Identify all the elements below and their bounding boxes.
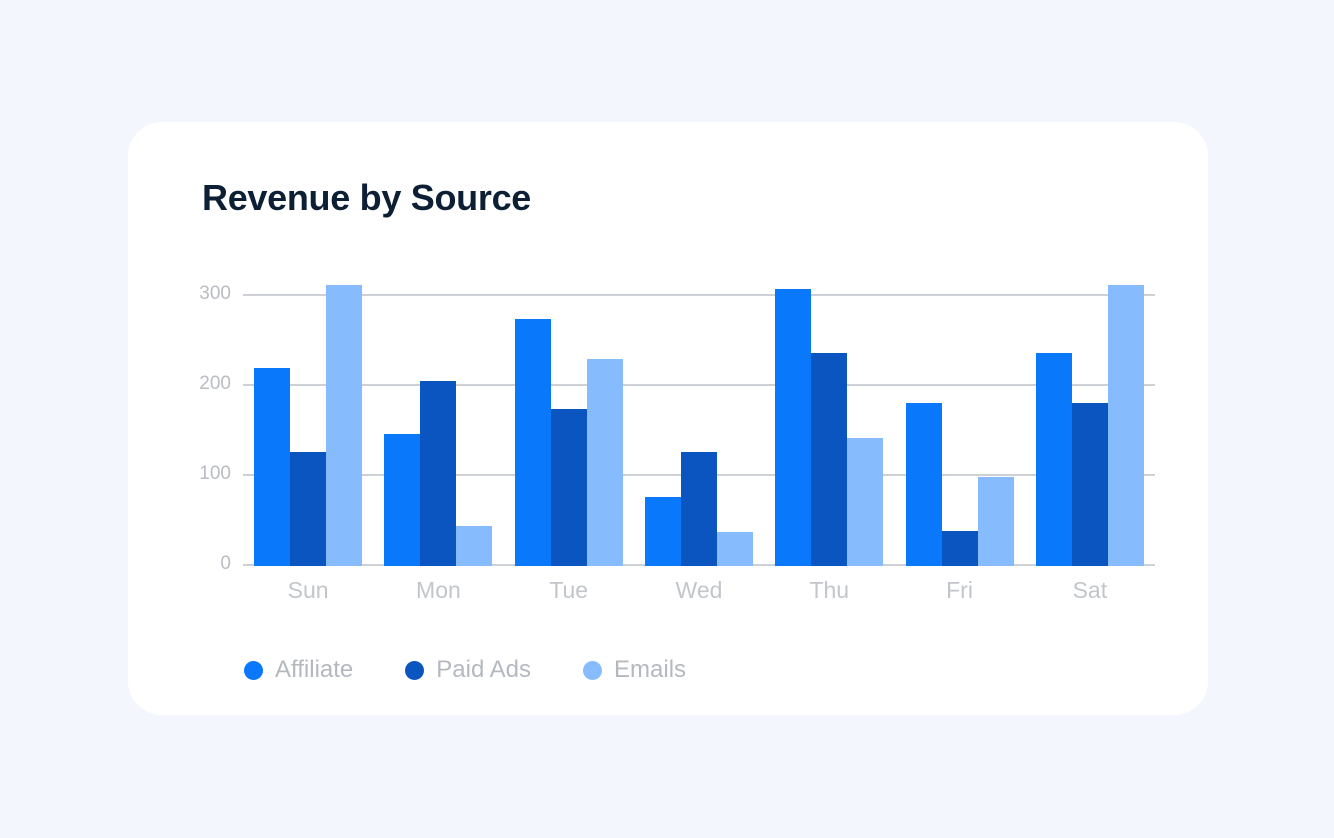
- bar[interactable]: [906, 403, 942, 566]
- bar-group: [894, 246, 1024, 566]
- x-axis-tick-label: Sun: [243, 577, 373, 604]
- x-axis-tick-label: Wed: [634, 577, 764, 604]
- bar[interactable]: [847, 438, 883, 566]
- bar-group: [1025, 246, 1155, 566]
- legend-item[interactable]: Emails: [583, 656, 686, 684]
- bar[interactable]: [384, 434, 420, 566]
- bar[interactable]: [254, 368, 290, 566]
- bar[interactable]: [420, 381, 456, 566]
- x-axis-tick-label: Mon: [373, 577, 503, 604]
- legend-label: Affiliate: [275, 656, 353, 684]
- bar-group: [373, 246, 503, 566]
- bar-group: [504, 246, 634, 566]
- chart-x-axis-labels: SunMonTueWedThuFriSat: [243, 577, 1155, 604]
- bar[interactable]: [1036, 353, 1072, 566]
- legend-label: Emails: [614, 656, 686, 684]
- x-axis-tick-label: Tue: [504, 577, 634, 604]
- revenue-by-source-card: Revenue by Source 0100200300 SunMonTueWe…: [128, 122, 1208, 715]
- bar-group: [764, 246, 894, 566]
- chart-bars-container: [243, 246, 1155, 566]
- y-axis-tick-label: 300: [199, 283, 231, 305]
- bar[interactable]: [290, 452, 326, 566]
- page-root: Revenue by Source 0100200300 SunMonTueWe…: [0, 0, 1334, 838]
- x-axis-tick-label: Sat: [1025, 577, 1155, 604]
- bar[interactable]: [978, 477, 1014, 566]
- legend-color-dot-icon: [244, 661, 263, 680]
- bar[interactable]: [326, 285, 362, 566]
- legend-color-dot-icon: [405, 661, 424, 680]
- bar-group: [243, 246, 373, 566]
- bar[interactable]: [1108, 285, 1144, 566]
- bar[interactable]: [551, 409, 587, 566]
- bar[interactable]: [645, 497, 681, 566]
- x-axis-tick-label: Thu: [764, 577, 894, 604]
- bar[interactable]: [1072, 403, 1108, 566]
- legend-item[interactable]: Affiliate: [244, 656, 353, 684]
- bar[interactable]: [456, 526, 492, 567]
- chart-plot-area: 0100200300: [243, 272, 1155, 566]
- legend-item[interactable]: Paid Ads: [405, 656, 531, 684]
- bar[interactable]: [681, 452, 717, 566]
- x-axis-tick-label: Fri: [894, 577, 1024, 604]
- bar[interactable]: [587, 359, 623, 566]
- bar[interactable]: [942, 531, 978, 566]
- bar[interactable]: [717, 532, 753, 566]
- bar[interactable]: [515, 319, 551, 567]
- y-axis-tick-label: 200: [199, 373, 231, 395]
- bar-group: [634, 246, 764, 566]
- y-axis-tick-label: 100: [199, 463, 231, 485]
- legend-color-dot-icon: [583, 661, 602, 680]
- chart-legend: AffiliatePaid AdsEmails: [244, 656, 738, 684]
- page-title: Revenue by Source: [202, 177, 531, 219]
- bar[interactable]: [775, 289, 811, 566]
- legend-label: Paid Ads: [436, 656, 531, 684]
- y-axis-tick-label: 0: [220, 553, 231, 575]
- bar[interactable]: [811, 353, 847, 566]
